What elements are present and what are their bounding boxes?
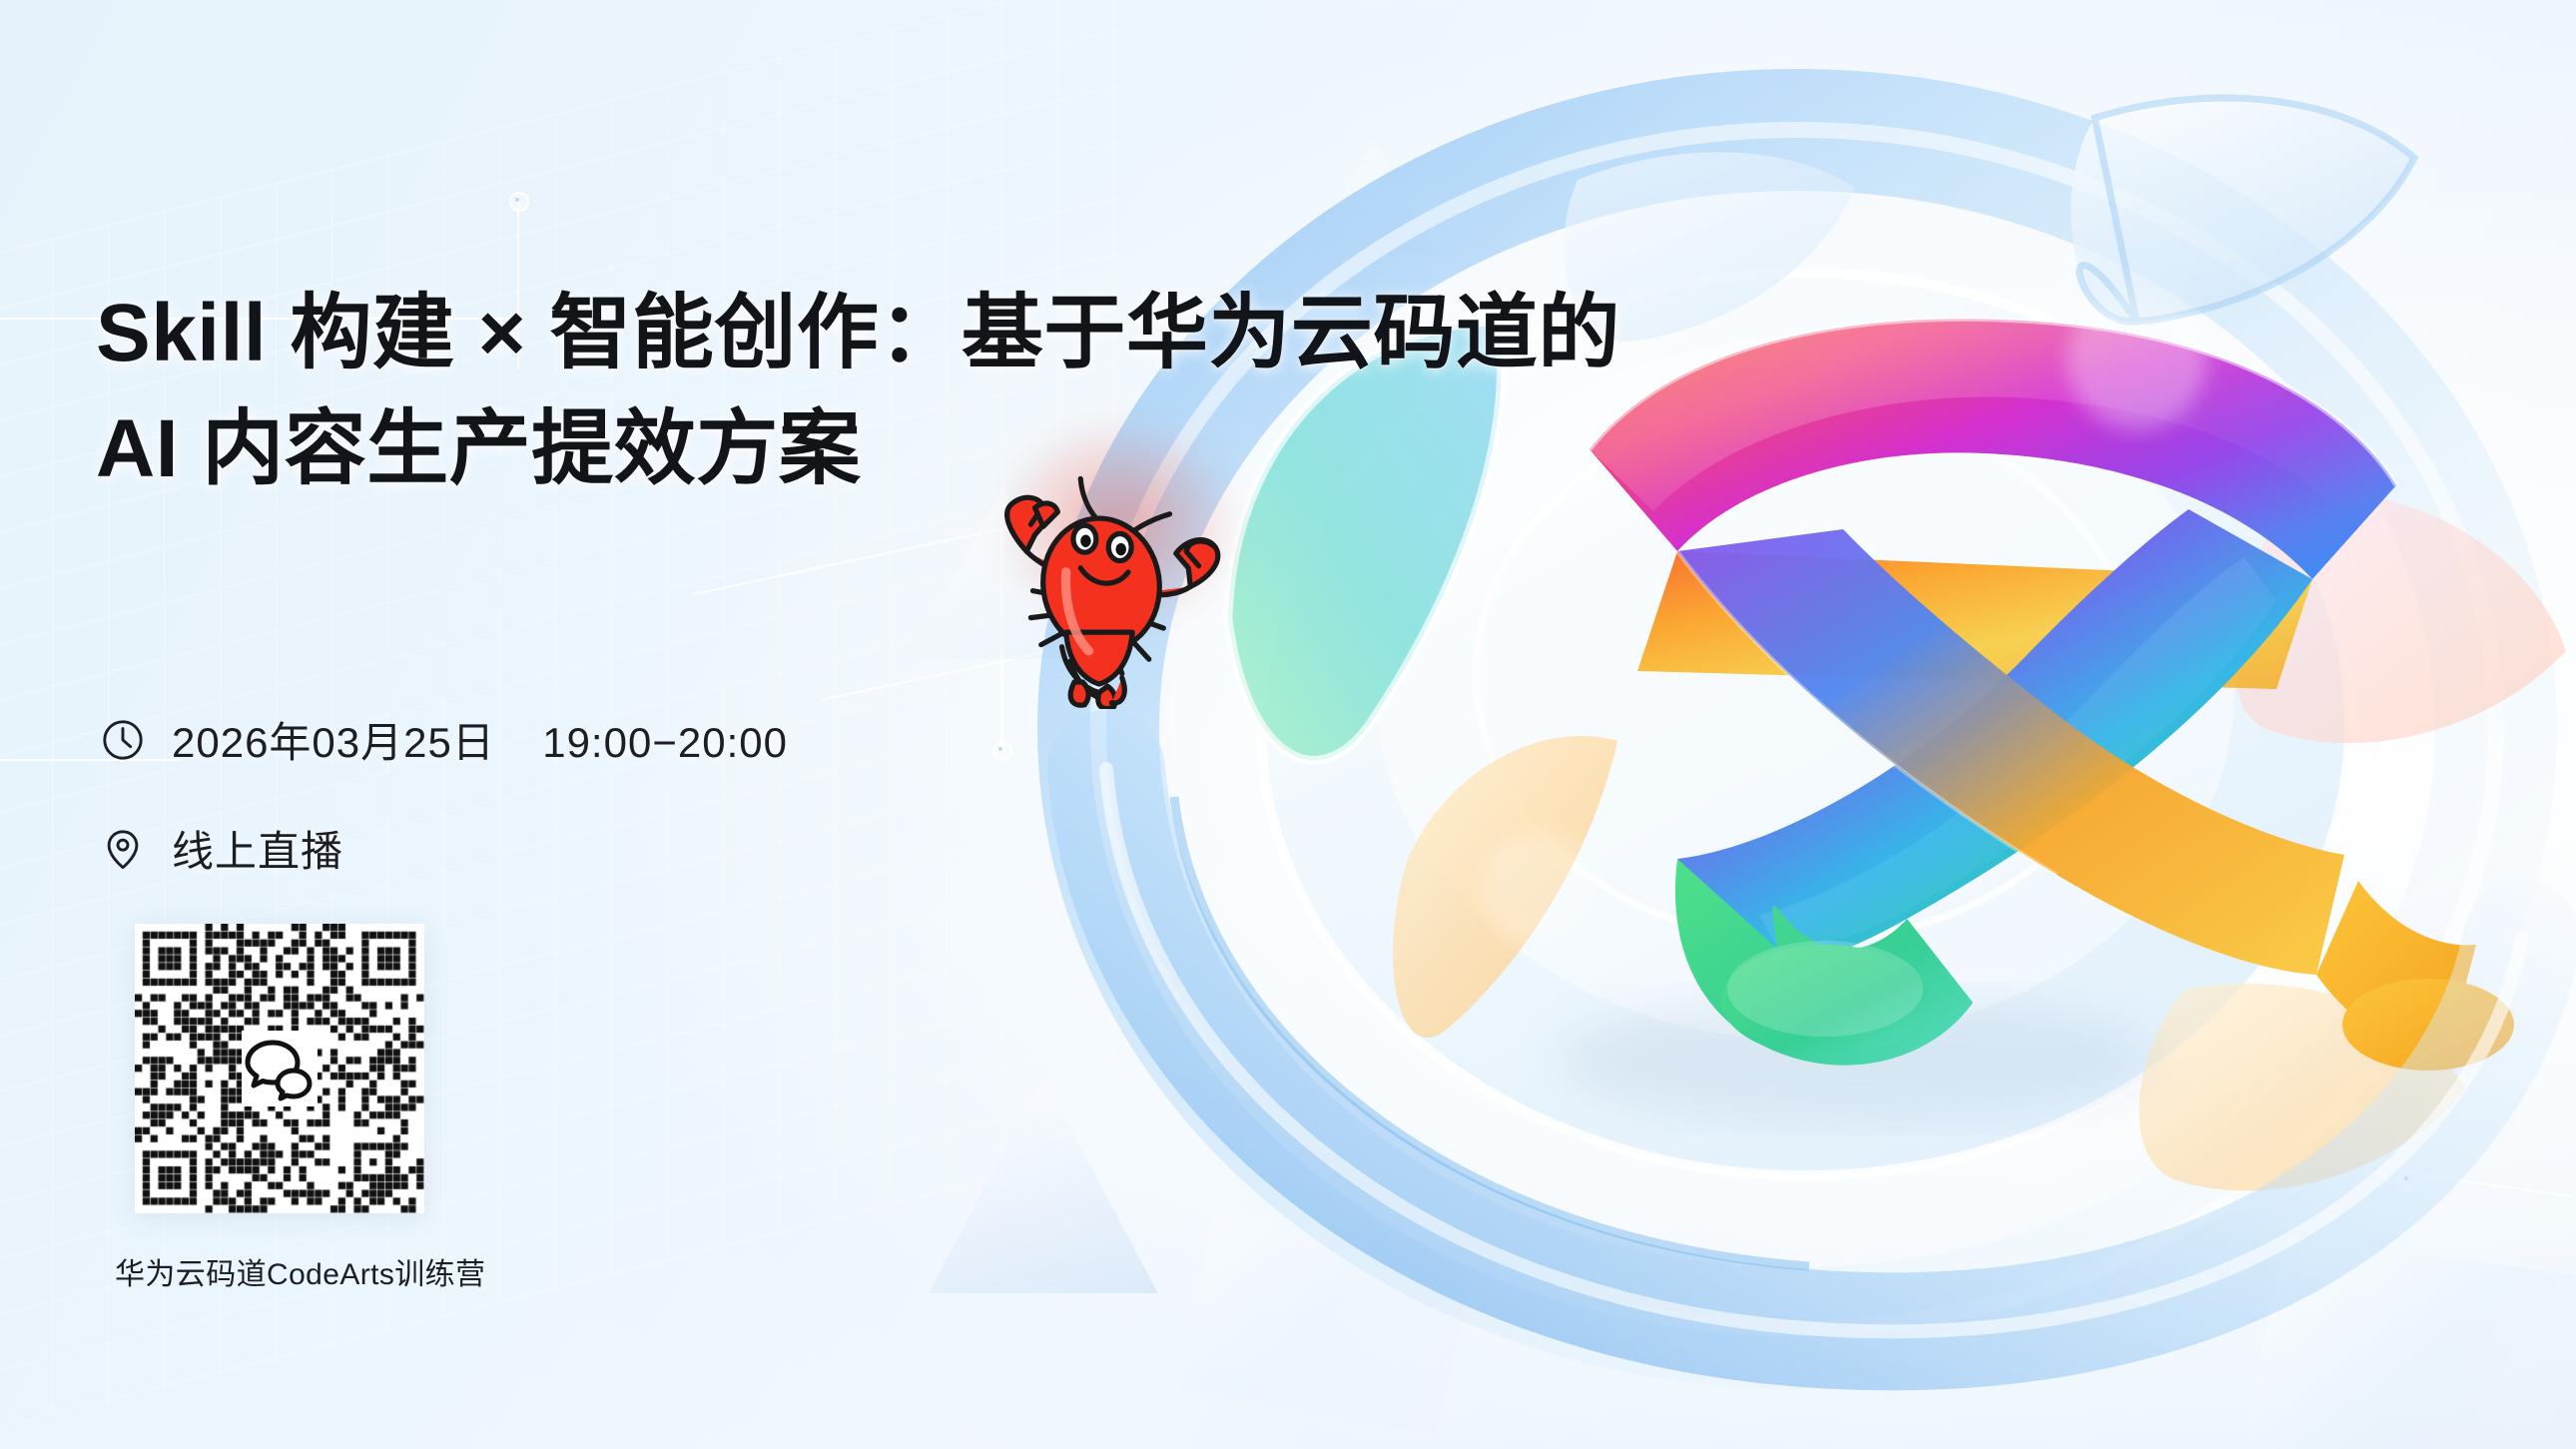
codearts-3d-artwork <box>978 0 2576 1449</box>
qr-caption: 华为云码道CodeArts训练营 <box>115 1249 454 1293</box>
headline-block: Skill 构建 × 智能创作：基于华为云码道的 AI 内容生产提效方案 <box>96 276 1620 508</box>
meta-row-datetime: 2026年03月25日 19:00−20:00 <box>100 709 788 770</box>
location-pin-icon <box>100 826 146 872</box>
qr-block: 华为云码道CodeArts训练营 <box>135 924 454 1293</box>
meta-row-location: 线上直播 <box>100 818 788 879</box>
qr-code[interactable] <box>135 924 424 1213</box>
lobster-icon <box>966 439 1236 709</box>
headline-line-1: Skill 构建 × 智能创作：基于华为云码道的 <box>96 276 1620 391</box>
event-banner: Skill 构建 × 智能创作：基于华为云码道的 AI 内容生产提效方案 <box>0 0 2576 1449</box>
event-time: 19:00−20:00 <box>542 719 788 766</box>
event-date: 2026年03月25日 <box>172 719 495 766</box>
wechat-speech-bubble-icon <box>242 1031 318 1106</box>
event-datetime: 2026年03月25日 19:00−20:00 <box>172 709 788 770</box>
event-location: 线上直播 <box>172 818 343 879</box>
clock-icon <box>100 717 146 763</box>
event-meta: 2026年03月25日 19:00−20:00 线上直播 <box>100 709 788 927</box>
tech-node-dot <box>509 192 529 212</box>
headline-line-2: AI 内容生产提效方案 <box>96 391 1620 507</box>
